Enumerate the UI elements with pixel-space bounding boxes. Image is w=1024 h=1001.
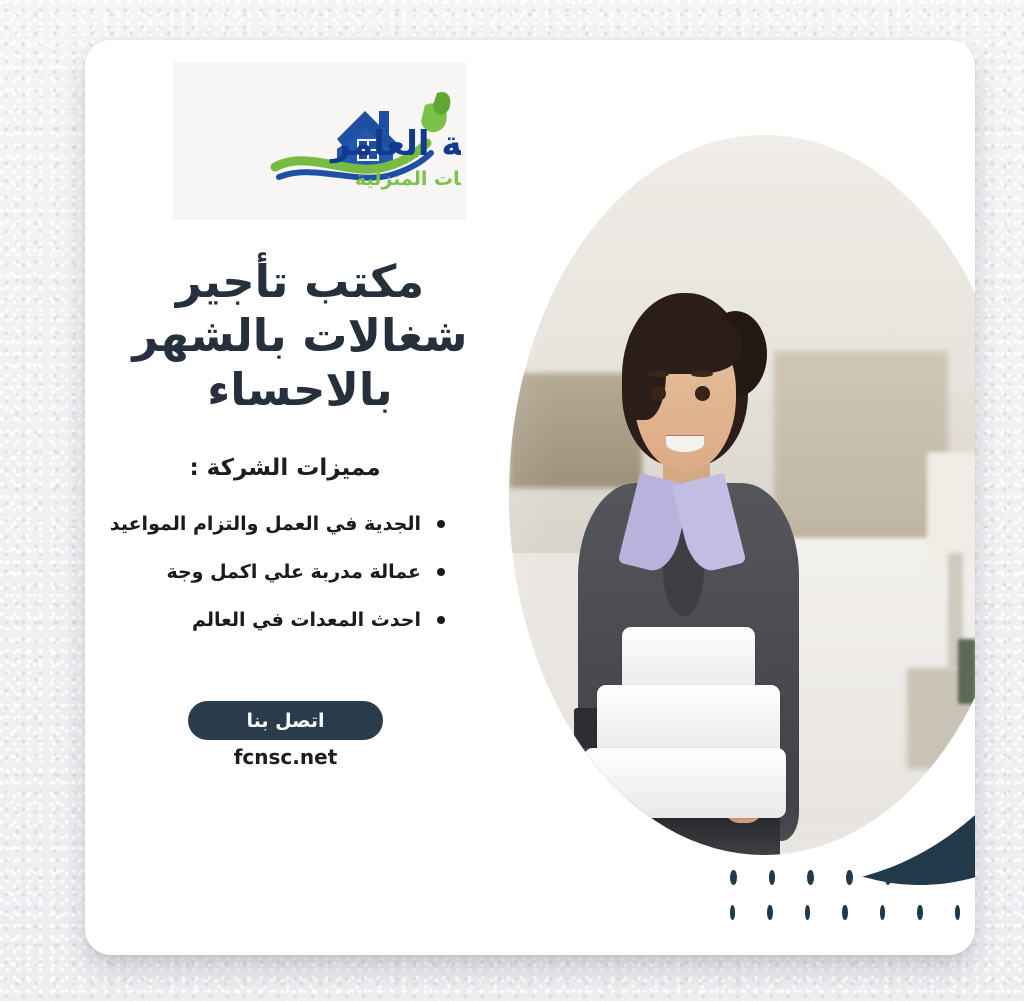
dot <box>885 870 892 885</box>
features-heading: مميزات الشركة : <box>85 455 485 481</box>
headline-line-3: بالاحساء <box>85 363 515 417</box>
dot <box>880 905 885 920</box>
dot-row-bottom <box>730 905 960 920</box>
features-list: الجدية في العمل والتزام المواعيد عمالة م… <box>85 500 505 644</box>
headline-line-1: مكتب تأجير <box>85 255 515 309</box>
page-title: مكتب تأجير شغالات بالشهر بالاحساء <box>85 255 515 417</box>
dot <box>917 905 922 920</box>
dot <box>805 905 810 920</box>
content-column: شركة العامر للخدمات المنزلية مكتب تأجير … <box>85 40 530 955</box>
decorative-dot-grid <box>730 870 960 940</box>
dot <box>846 870 853 885</box>
contact-us-button[interactable]: اتصل بنا <box>188 701 383 740</box>
dot <box>730 905 735 920</box>
dot <box>955 905 960 920</box>
dot <box>807 870 814 885</box>
bullet-icon <box>437 568 445 576</box>
feature-text: الجدية في العمل والتزام المواعيد <box>110 513 421 535</box>
company-logo: شركة العامر للخدمات المنزلية <box>173 62 466 220</box>
dot <box>923 870 930 885</box>
hero-photo-circle <box>509 135 975 855</box>
hero-photo <box>509 135 975 855</box>
list-item: احدث المعدات في العالم <box>85 596 505 644</box>
headline-line-2: شغالات بالشهر <box>85 309 515 363</box>
dot <box>769 870 776 885</box>
dot <box>842 905 847 920</box>
svg-text:شركة العامر: شركة العامر <box>329 124 461 164</box>
poster-card: شركة العامر للخدمات المنزلية مكتب تأجير … <box>85 40 975 955</box>
photo-vignette <box>509 135 975 855</box>
list-item: عمالة مدربة علي اكمل وجة <box>85 548 505 596</box>
feature-text: احدث المعدات في العالم <box>192 609 421 631</box>
house-leaf-logo-icon: شركة العامر للخدمات المنزلية <box>179 81 461 201</box>
dot <box>767 905 772 920</box>
dot <box>730 870 737 885</box>
website-url: fcnsc.net <box>188 745 383 769</box>
list-item: الجدية في العمل والتزام المواعيد <box>85 500 505 548</box>
svg-text:للخدمات المنزلية: للخدمات المنزلية <box>355 168 461 190</box>
dot-row-top <box>730 870 960 885</box>
feature-text: عمالة مدربة علي اكمل وجة <box>166 561 421 583</box>
bullet-icon <box>437 616 445 624</box>
bullet-icon <box>437 520 445 528</box>
